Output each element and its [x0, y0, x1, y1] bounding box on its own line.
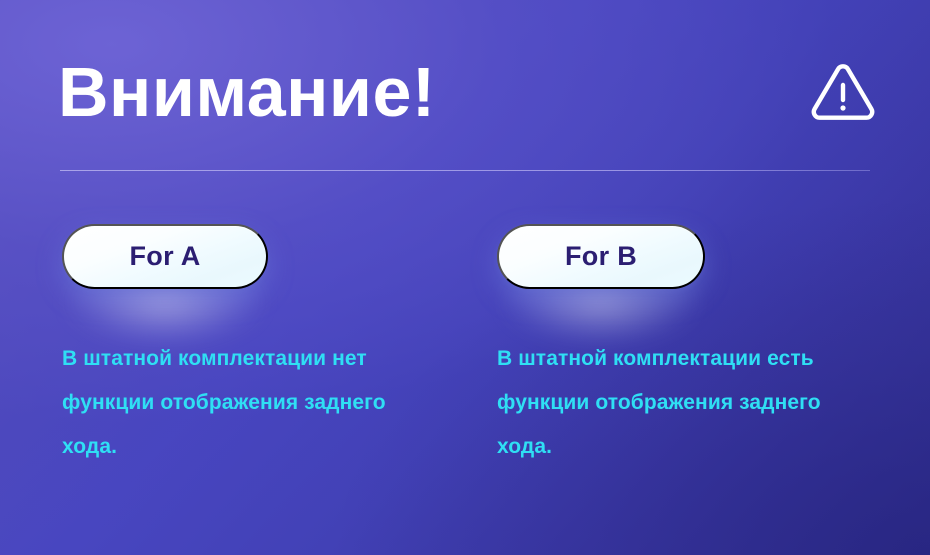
page-title: Внимание! — [58, 54, 436, 130]
column-for-b: For B В штатной комплектации есть функци… — [497, 224, 897, 469]
for-b-button[interactable]: For B — [497, 224, 705, 289]
warning-slide: Внимание! For A В штатной комплектации н… — [0, 0, 930, 555]
pill-wrapper-b: For B — [497, 224, 705, 289]
for-b-description: В штатной комплектации есть функции отоб… — [497, 337, 879, 469]
pill-wrapper-a: For A — [62, 224, 268, 289]
warning-triangle-icon — [810, 64, 876, 122]
for-a-button[interactable]: For A — [62, 224, 268, 289]
column-for-a: For A В штатной комплектации нет функции… — [62, 224, 462, 469]
for-a-description: В штатной комплектации нет функции отобр… — [62, 337, 444, 469]
